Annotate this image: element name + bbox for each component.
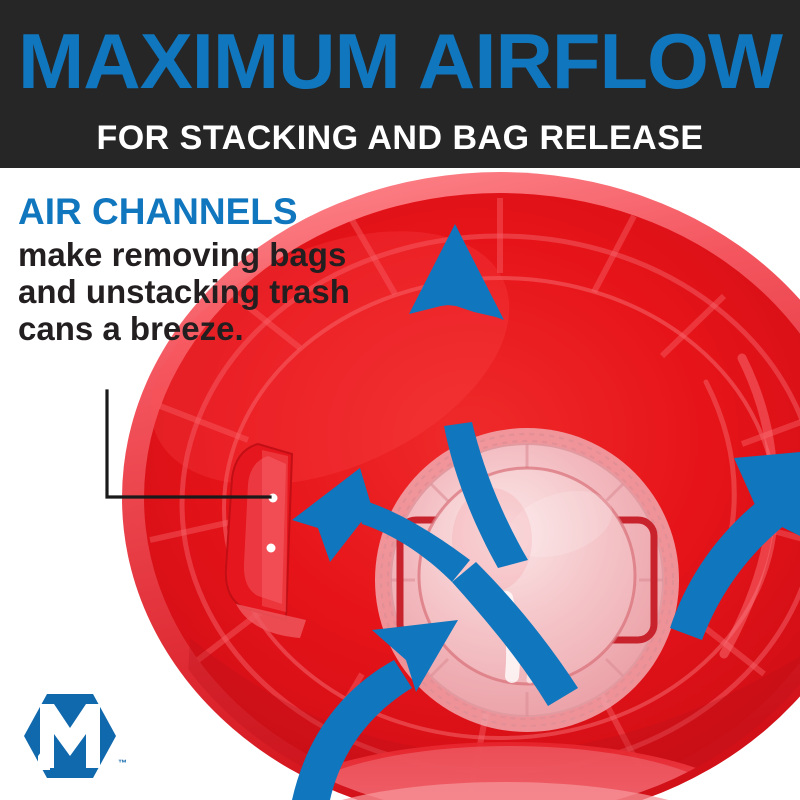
callout-body: make removing bags and unstacking trash … xyxy=(18,236,346,347)
center-hub xyxy=(375,428,679,732)
air-channels-callout: AIR CHANNELS make removing bags and unst… xyxy=(16,192,346,347)
brand-logo: ™ xyxy=(20,690,140,790)
callout-body-line-3: cans a breeze. xyxy=(18,310,346,347)
vent-hole xyxy=(267,544,276,553)
hexagon-m-logo-icon xyxy=(20,690,120,782)
infographic-poster: MAXIMUM AIRFLOW FOR STACKING AND BAG REL… xyxy=(0,0,800,800)
vent-hole xyxy=(269,494,278,503)
callout-body-line-1: make removing bags xyxy=(18,236,346,273)
callout-body-line-2: and unstacking trash xyxy=(18,273,346,310)
callout-title: AIR CHANNELS xyxy=(18,192,346,232)
page-subtitle: FOR STACKING AND BAG RELEASE xyxy=(0,118,800,158)
page-title: MAXIMUM AIRFLOW xyxy=(0,18,800,104)
header-band: MAXIMUM AIRFLOW FOR STACKING AND BAG REL… xyxy=(0,0,800,168)
trademark-symbol: ™ xyxy=(118,758,127,768)
